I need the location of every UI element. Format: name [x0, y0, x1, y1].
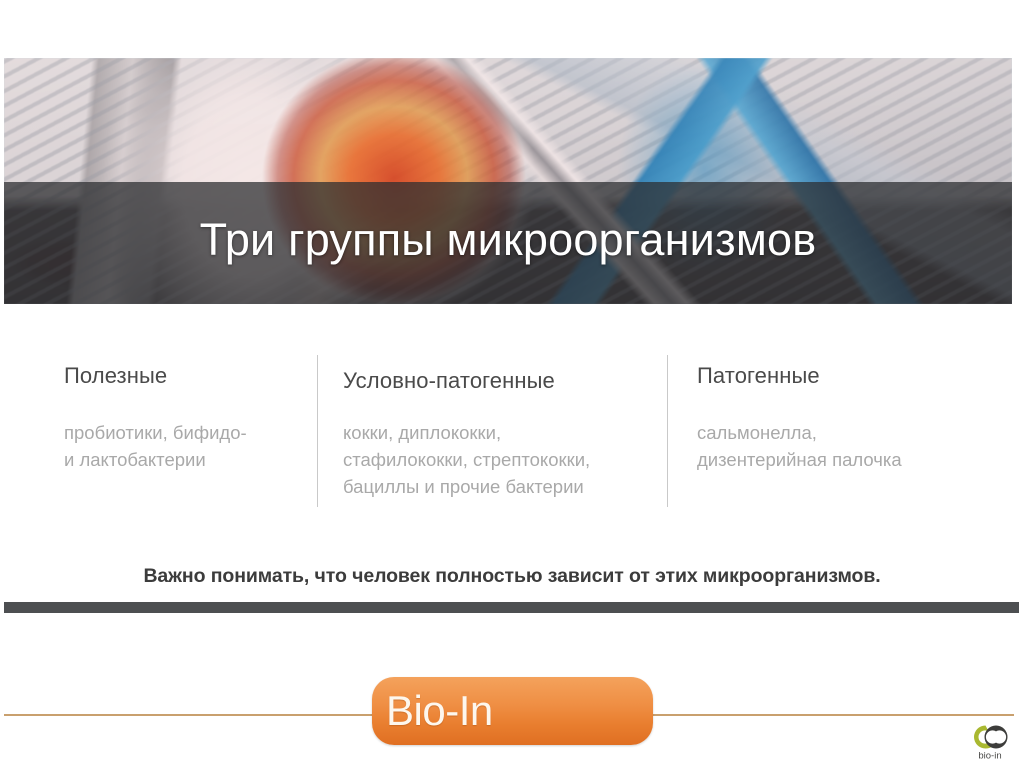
- logo-wordmark: bio-in: [978, 751, 1001, 762]
- bio-in-logo-mark: bio-in: [966, 719, 1014, 761]
- brand-button[interactable]: Bio-In: [372, 677, 653, 745]
- group-column-opportunistic: Условно-патогенные кокки, диплококки, ст…: [343, 352, 653, 500]
- slide-canvas: Три группы микроорганизмов Полезные проб…: [0, 0, 1024, 768]
- group-body-opportunistic: кокки, диплококки, стафилококки, стрепто…: [343, 419, 653, 500]
- microorganism-groups: Полезные пробиотики, бифидо- и лактобакт…: [0, 352, 1024, 512]
- group-heading-beneficial: Полезные: [64, 363, 304, 389]
- group-column-pathogenic: Патогенные сальмонелла, дизентерийная па…: [697, 352, 997, 473]
- slide-title: Три группы микроорганизмов: [4, 200, 1012, 280]
- group-body-pathogenic: сальмонелла, дизентерийная палочка: [697, 419, 997, 473]
- hero-banner: Три группы микроорганизмов: [4, 58, 1012, 304]
- dark-divider-bar: [4, 602, 1019, 613]
- key-statement: Важно понимать, что человек полностью за…: [0, 565, 1024, 588]
- group-body-beneficial: пробиотики, бифидо- и лактобактерии: [64, 419, 304, 473]
- bio-in-logo: bio-in: [966, 719, 1014, 761]
- logo-ring-dark: [985, 726, 1008, 749]
- group-heading-pathogenic: Патогенные: [697, 363, 997, 389]
- group-heading-opportunistic: Условно-патогенные: [343, 368, 653, 394]
- group-column-beneficial: Полезные пробиотики, бифидо- и лактобакт…: [64, 352, 304, 473]
- brand-button-label: Bio-In: [386, 690, 493, 732]
